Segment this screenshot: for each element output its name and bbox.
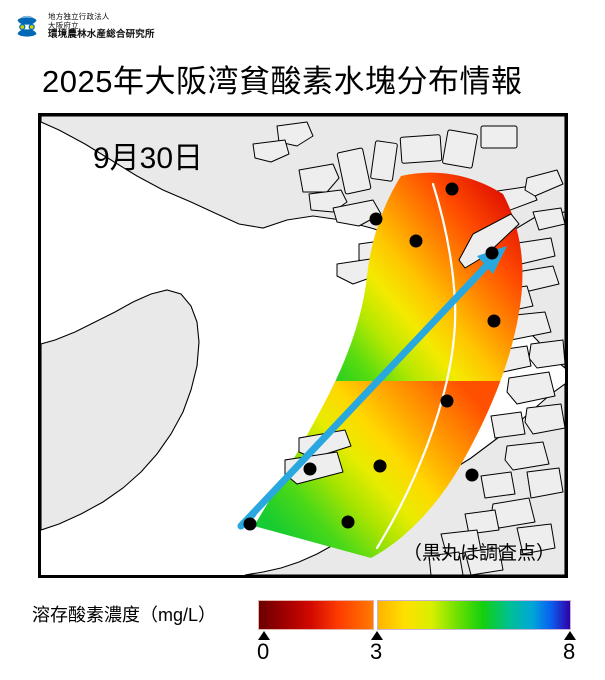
survey-point	[342, 516, 355, 529]
survey-points-note: （黒丸は調査点）	[403, 538, 555, 565]
survey-point	[370, 213, 383, 226]
colorbar-segment-high	[377, 600, 571, 630]
colorbar-tick-label-0: 0	[257, 639, 269, 665]
logo-line-3: 環境農林水産総合研究所	[48, 30, 155, 41]
page-title: 2025年大阪湾貧酸素水塊分布情報	[42, 56, 522, 101]
colorbar-legend: 溶存酸素濃度（mg/L） 0 3 8	[0, 592, 605, 676]
map-panel: 9月30日 （黒丸は調査点）	[38, 113, 568, 578]
institute-logo-text: 地方独立行政法人 大阪府立 環境農林水産総合研究所	[48, 13, 155, 40]
survey-point	[441, 395, 454, 408]
colorbar-tick-label-8: 8	[563, 639, 575, 665]
survey-point	[446, 183, 459, 196]
survey-point	[466, 469, 479, 482]
survey-point	[488, 315, 501, 328]
survey-point	[304, 463, 317, 476]
survey-point	[374, 460, 387, 473]
colorbar-tick-label-3: 3	[370, 639, 382, 665]
observation-date-label: 9月30日	[93, 133, 203, 177]
survey-point	[244, 518, 257, 531]
institute-logo: 地方独立行政法人 大阪府立 環境農林水産総合研究所	[12, 12, 155, 42]
colorbar-label: 溶存酸素濃度（mg/L）	[32, 601, 216, 627]
institute-logo-icon	[12, 12, 42, 42]
survey-point	[486, 247, 499, 260]
survey-point	[410, 235, 423, 248]
colorbar-segment-low	[258, 600, 374, 630]
dissolved-oxygen-distribution-map	[41, 116, 565, 575]
